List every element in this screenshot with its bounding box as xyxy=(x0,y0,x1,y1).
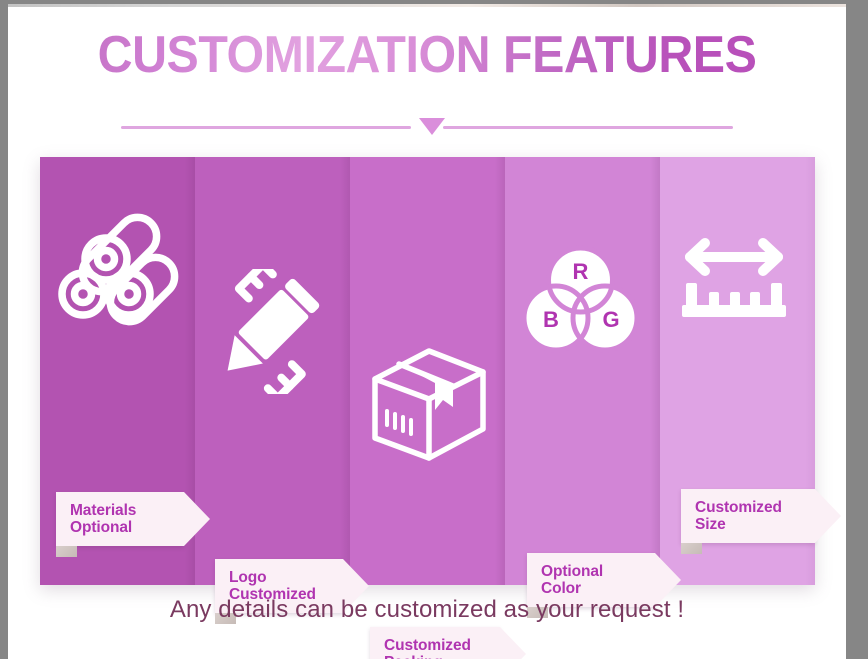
page-title: CUSTOMIZATION FEATURES xyxy=(37,28,816,83)
ribbon-label: Materials Optional xyxy=(56,502,146,537)
rgb-letter-b: B xyxy=(543,307,559,332)
rgb-letter-r: R xyxy=(573,259,589,284)
divider-line-right xyxy=(443,126,733,129)
ribbon-label: Customized Size xyxy=(681,499,792,534)
pencil-ruler-icon xyxy=(208,269,333,394)
footer-caption: Any details can be customized as your re… xyxy=(8,596,846,624)
title-divider xyxy=(8,115,846,139)
ribbon-customized-packing[interactable]: Customized Packing xyxy=(370,627,500,659)
rgb-circles-icon: R B G xyxy=(523,242,638,357)
divider-caret-icon xyxy=(419,118,445,135)
ribbon-label: Optional Color xyxy=(527,563,613,598)
ribbon-materials-optional[interactable]: Materials Optional xyxy=(56,492,184,546)
ribbon-customized-size[interactable]: Customized Size xyxy=(681,489,815,543)
ribbon-label: Customized Packing xyxy=(370,637,481,659)
divider-line-left xyxy=(121,126,411,129)
package-box-icon xyxy=(365,345,490,463)
slide-canvas: CUSTOMIZATION FEATURES xyxy=(8,4,846,659)
top-edge-rule xyxy=(8,4,846,7)
size-ruler-arrow-icon xyxy=(678,237,790,327)
title-block: CUSTOMIZATION FEATURES xyxy=(8,28,846,83)
feature-column-color xyxy=(505,157,660,585)
feature-columns-panel: R B G xyxy=(40,157,815,585)
rgb-letter-g: G xyxy=(602,307,619,332)
material-rolls-icon xyxy=(50,197,185,332)
